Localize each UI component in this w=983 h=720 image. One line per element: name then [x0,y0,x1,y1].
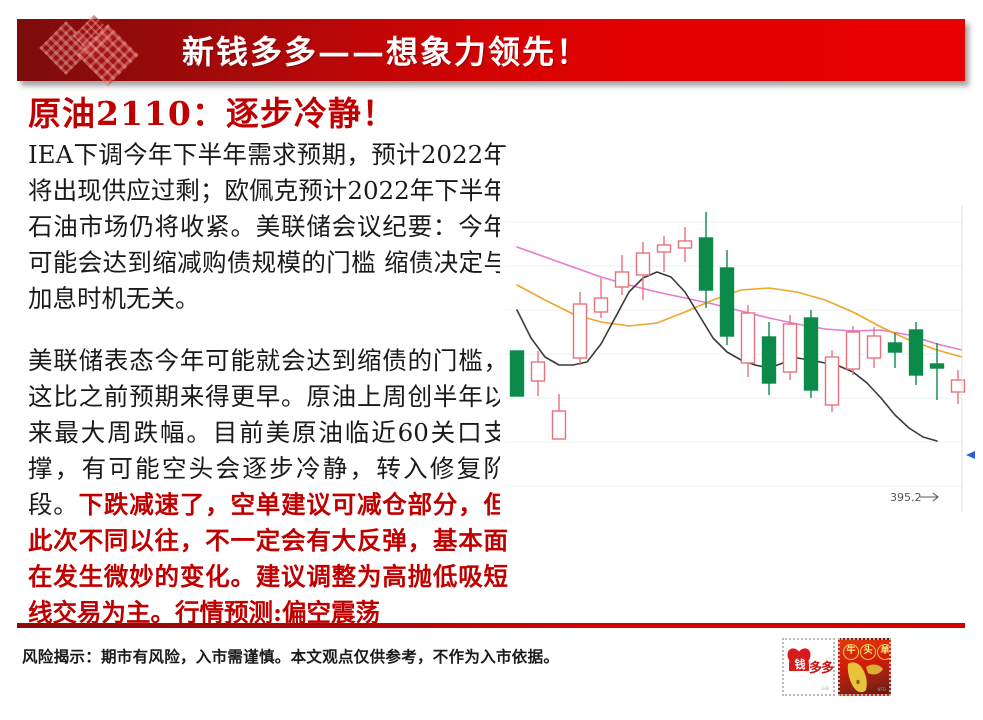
stamp-left-tiny-text: LHB [821,686,829,691]
footer-logos: 钱 多多 LHB 牛 头 单 NTD [782,638,891,696]
candlestick-chart-svg: 395.2 [500,150,978,520]
qianduoduo-stamp-icon: 钱 多多 LHB [782,638,835,696]
price-label-arrow-icon [920,493,938,501]
candle-10 [721,250,734,345]
candle-11 [742,305,755,377]
stamp-left-text: 多多 [809,657,833,676]
stamp-right-circles: 牛 头 单 [843,644,891,660]
candle-8 [679,227,692,262]
circle-char-1: 牛 [843,644,859,660]
article-paragraph-2: 美联储表态今年可能就会达到缩债的门槛，这比之前预期来得更早。原油上周创半年以来最… [28,343,508,631]
candle-7 [658,236,671,272]
candle-2 [553,394,566,439]
circle-char-3: 单 [877,644,891,660]
candle-13 [784,315,797,380]
footer-divider [17,623,965,628]
candle-21 [952,370,965,404]
qianduoduo-diamond-logo-icon [31,21,179,81]
niutoudan-stamp-icon: 牛 头 单 NTD [838,638,891,696]
candle-5 [616,255,629,295]
article-column: 原油2110：逐步冷静！ IEA下调今年下半年需求预期，预计2022年将出现供应… [28,93,508,631]
footer-disclaimer: 风险揭示：期市有风险，入市需谨慎。本文观点仅供参考，不作为入市依据。 [22,645,559,667]
candle-16 [847,326,860,375]
article-paragraph-1: IEA下调今年下半年需求预期，预计2022年将出现供应过剩；欧佩克预计2022年… [28,137,508,317]
price-label: 395.2 [890,491,922,504]
candle-15 [826,350,839,412]
candle-14 [805,310,818,398]
heart-char-label: 钱 [792,656,808,672]
last-price-marker [966,451,975,459]
candle-3 [574,292,587,365]
header-title: 新钱多多——想象力领先！ [182,27,590,73]
circle-char-2: 头 [860,644,876,660]
stamp-right-tiny-text: NTD [877,687,886,692]
paragraph-2-red-run: 下跌减速了，空单建议可减仓部分，但此次不同以往，不一定会有大反弹，基本面在发生微… [28,490,508,627]
paragraph-spacer [28,317,508,343]
candle-18 [889,333,902,368]
article-headline: 原油2110：逐步冷静！ [28,93,508,135]
candle-1 [532,351,545,396]
candle-0 [511,351,524,396]
candle-6 [637,242,650,300]
candle-19 [910,322,923,385]
candle-9 [700,212,713,308]
candle-4 [595,278,608,318]
header-banner: 新钱多多——想象力领先！ [17,19,965,81]
candlestick-chart: 395.2 [500,150,978,520]
candle-12 [763,322,776,395]
candle-17 [868,327,881,368]
